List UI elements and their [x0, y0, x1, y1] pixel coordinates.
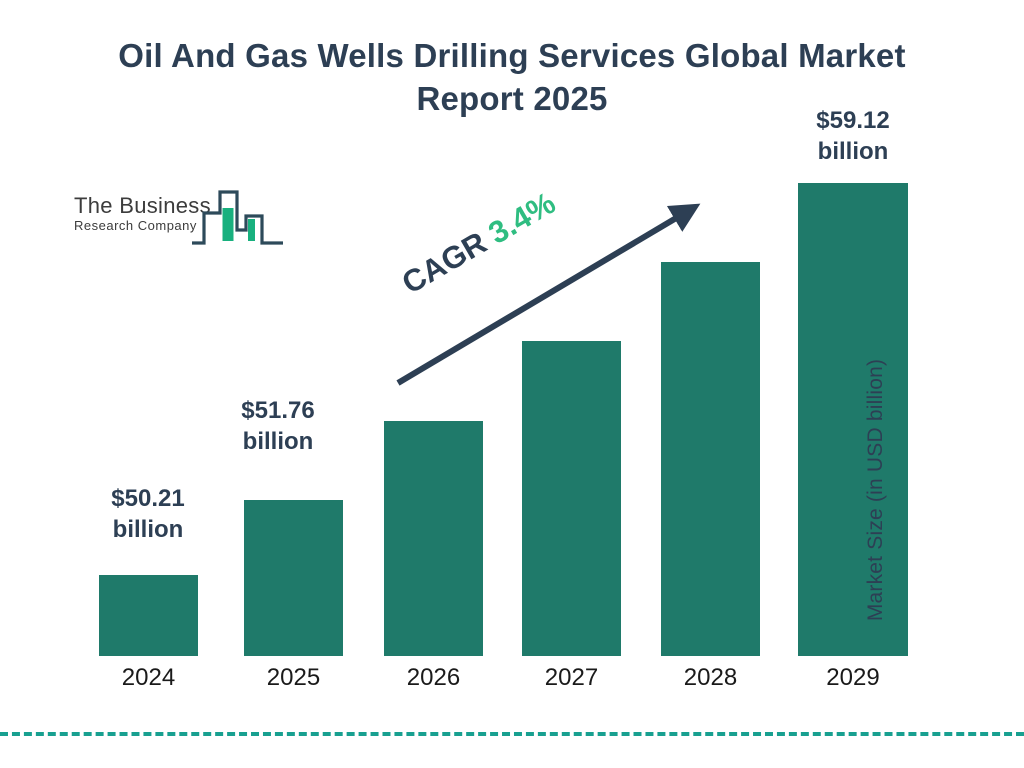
value-label-2025: $51.76 billion [203, 395, 353, 457]
xtick-2028: 2028 [661, 664, 760, 692]
xtick-2025: 2025 [244, 664, 343, 692]
xtick-2027: 2027 [522, 664, 621, 692]
value-label-2024: $50.21 billion [78, 483, 218, 545]
bar-2029[interactable] [798, 183, 908, 656]
xtick-2026: 2026 [384, 664, 483, 692]
value-label-2029-unit: billion [779, 136, 927, 167]
xtick-2024: 2024 [99, 664, 198, 692]
bar-chart-plot: $50.21 billion $51.76 billion $59.12 bil… [0, 0, 1024, 768]
value-label-2024-amount: $50.21 [78, 483, 218, 514]
footer-divider [0, 732, 1024, 736]
value-label-2025-amount: $51.76 [203, 395, 353, 426]
bar-2026[interactable] [384, 421, 483, 656]
bar-2024[interactable] [99, 575, 198, 656]
value-label-2029: $59.12 billion [779, 105, 927, 167]
xtick-2029: 2029 [798, 664, 908, 692]
bar-2025[interactable] [244, 500, 343, 656]
y-axis-title: Market Size (in USD billion) [864, 320, 888, 660]
chart-canvas: Oil And Gas Wells Drilling Services Glob… [0, 0, 1024, 768]
value-label-2025-unit: billion [203, 426, 353, 457]
value-label-2029-amount: $59.12 [779, 105, 927, 136]
value-label-2024-unit: billion [78, 514, 218, 545]
